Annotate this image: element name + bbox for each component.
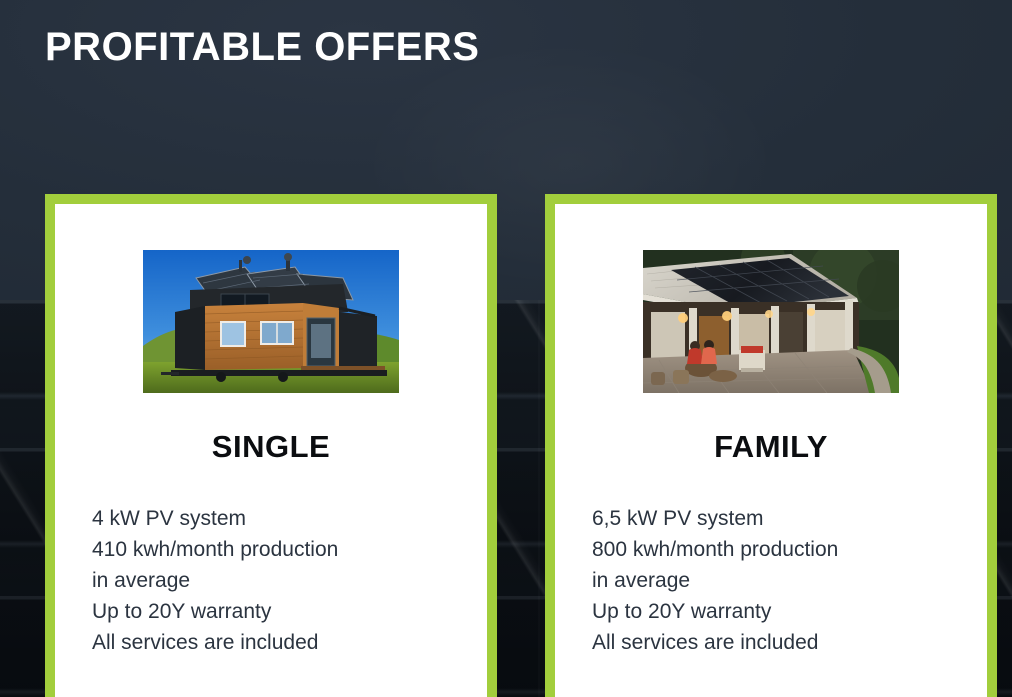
feature-item: 6,5 kW PV system (592, 503, 967, 534)
feature-item: 410 kwh/month production (92, 534, 467, 565)
feature-item: 800 kwh/month production (592, 534, 967, 565)
offer-card-family[interactable]: FAMILY 6,5 kW PV system 800 kwh/month pr… (545, 194, 997, 697)
feature-item: All services are included (92, 627, 467, 658)
feature-item: 4 kW PV system (92, 503, 467, 534)
offer-features-single: 4 kW PV system 410 kwh/month production … (55, 503, 487, 658)
offer-title-single: SINGLE (55, 429, 487, 465)
feature-item: Up to 20Y warranty (592, 596, 967, 627)
feature-item: Up to 20Y warranty (92, 596, 467, 627)
offer-title-family: FAMILY (555, 429, 987, 465)
offer-features-family: 6,5 kW PV system 800 kwh/month productio… (555, 503, 987, 658)
offer-card-single[interactable]: SINGLE 4 kW PV system 410 kwh/month prod… (45, 194, 497, 697)
feature-item: All services are included (592, 627, 967, 658)
feature-item: in average (592, 565, 967, 596)
offer-image-family (643, 250, 899, 393)
feature-item: in average (92, 565, 467, 596)
page-title: PROFITABLE OFFERS (45, 24, 479, 70)
offer-image-single (143, 250, 399, 393)
offer-card-list: SINGLE 4 kW PV system 410 kwh/month prod… (0, 0, 1012, 697)
